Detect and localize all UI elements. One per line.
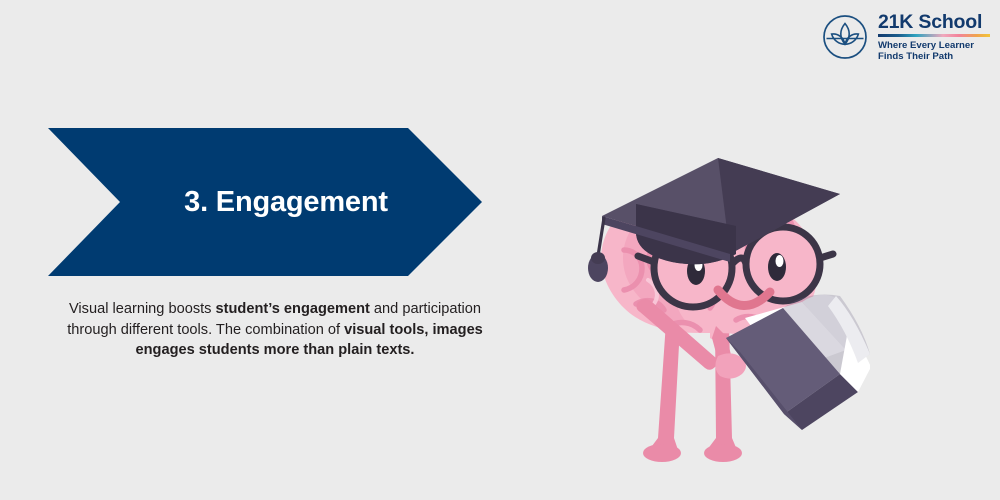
brand-gradient-rule	[878, 34, 990, 37]
lotus-in-circle-icon	[822, 14, 868, 60]
section-banner: 3. Engagement	[48, 128, 482, 276]
brand-logo-text: 21K School Where Every Learner Finds The…	[878, 11, 992, 63]
graduate-brain-illustration	[540, 138, 870, 468]
brand-tagline: Where Every Learner Finds Their Path	[878, 40, 992, 63]
body-paragraph: Visual learning boosts student’s engagem…	[60, 299, 490, 361]
body-segment-0: Visual learning boosts	[69, 301, 216, 317]
brand-tagline-line-1: Where Every Learner	[878, 40, 974, 51]
body-segment-1: student’s engagement	[216, 301, 370, 317]
slide-canvas: 21K School Where Every Learner Finds The…	[0, 0, 1000, 500]
brand-title: 21K School	[878, 11, 992, 33]
brand-logo[interactable]: 21K School Where Every Learner Finds The…	[822, 11, 992, 63]
brand-tagline-line-2: Finds Their Path	[878, 51, 953, 62]
page-title: 3. Engagement	[48, 128, 482, 276]
